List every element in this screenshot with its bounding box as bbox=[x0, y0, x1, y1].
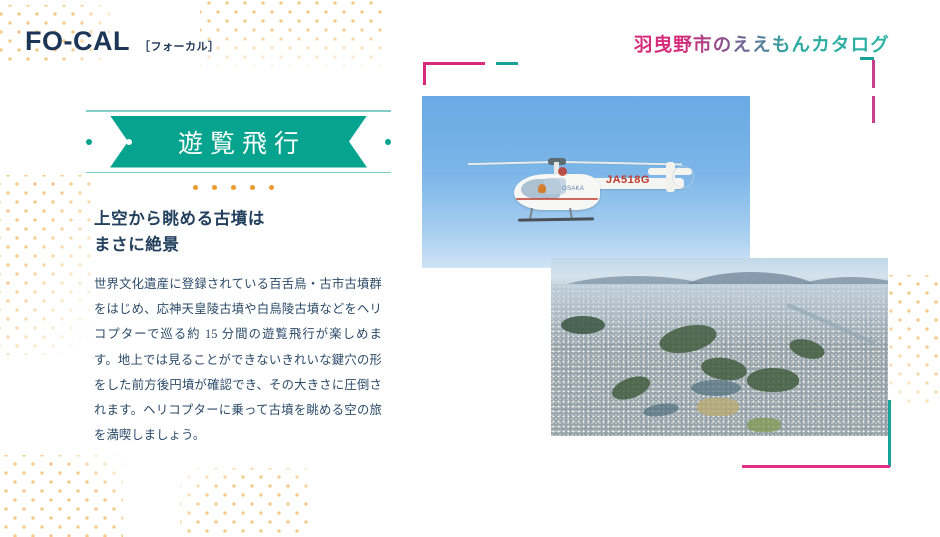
photo-helicopter: OSAKA JA518G bbox=[422, 96, 750, 268]
headline-line-1: 上空から眺める古墳は bbox=[94, 206, 394, 232]
main-rotor-blade-right bbox=[562, 161, 682, 166]
tail-logo-icon bbox=[558, 167, 567, 176]
corner-rule-bottom-right-vertical bbox=[888, 400, 891, 467]
registration-number: JA518G bbox=[606, 174, 650, 186]
photo-aerial-cityscape bbox=[551, 258, 888, 436]
landing-skid bbox=[518, 217, 594, 221]
corner-rule-top-right-lower bbox=[872, 96, 875, 123]
burial-mound-5 bbox=[561, 316, 605, 334]
open-field-2 bbox=[747, 418, 781, 432]
headline-line-2: まさに絶景 bbox=[94, 232, 394, 258]
burial-mound-3 bbox=[747, 368, 799, 392]
article-headline: 上空から眺める古墳は まさに絶景 bbox=[94, 206, 394, 257]
dot-2 bbox=[212, 185, 217, 190]
dot-pattern-bottom-middle bbox=[180, 468, 310, 537]
dot-4 bbox=[250, 185, 255, 190]
corner-rule-bottom-right-horizontal bbox=[742, 465, 890, 468]
dot-pattern-bottom-left bbox=[0, 455, 123, 537]
banner-label: 遊覧飛行 bbox=[86, 116, 391, 168]
section-banner: 遊覧飛行 bbox=[86, 110, 391, 173]
banner-rule-top bbox=[86, 110, 391, 112]
brand-logo: FO-CAL ［フォーカル］ bbox=[25, 26, 219, 57]
decorative-dot-row bbox=[193, 185, 274, 190]
open-field-1 bbox=[697, 398, 739, 416]
tail-rotor bbox=[672, 166, 694, 188]
pilot-figure bbox=[538, 184, 546, 193]
accent-dash-teal-top-left bbox=[496, 62, 518, 65]
logo-wordmark: FO-CAL bbox=[25, 26, 130, 57]
dot-1 bbox=[193, 185, 198, 190]
article-body: 世界文化遺産に登録されている百舌鳥・古市古墳群をはじめ、応神天皇陵古墳や白鳥陵古… bbox=[94, 272, 382, 448]
corner-rule-top-right-upper bbox=[872, 60, 875, 88]
dot-3 bbox=[231, 185, 236, 190]
atmospheric-haze bbox=[551, 284, 888, 344]
pond-1 bbox=[691, 380, 741, 396]
corner-rule-top-left-horizontal bbox=[423, 62, 485, 65]
banner-rule-bottom bbox=[86, 172, 391, 174]
helicopter-illustration: OSAKA JA518G bbox=[466, 148, 712, 228]
main-rotor-blade-left bbox=[468, 161, 554, 165]
corner-rule-top-left-vertical bbox=[423, 62, 426, 85]
dot-5 bbox=[269, 185, 274, 190]
fuselage-stripe bbox=[516, 198, 598, 200]
dot-pattern-left-middle bbox=[0, 175, 95, 355]
dot-pattern-top-left bbox=[200, 0, 385, 66]
logo-kana-subtitle: ［フォーカル］ bbox=[139, 38, 220, 54]
fuselage-marking: OSAKA bbox=[562, 186, 584, 192]
banner-ribbon: 遊覧飛行 bbox=[86, 116, 391, 168]
brochure-page: FO-CAL ［フォーカル］ 羽曳野市のええもんカタログ 遊覧飛行 上空から眺め… bbox=[0, 0, 940, 537]
catalog-title: 羽曳野市のええもんカタログ bbox=[634, 31, 890, 57]
